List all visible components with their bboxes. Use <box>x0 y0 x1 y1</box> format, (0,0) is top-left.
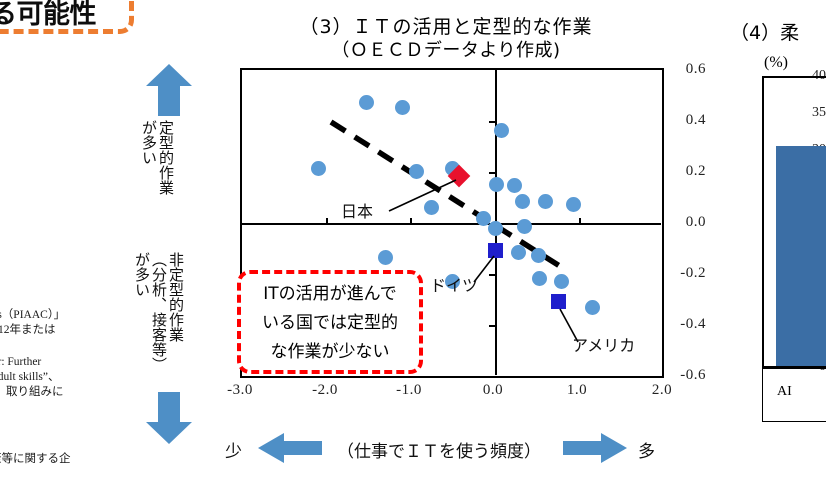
note-line-6: 康等に関する企 <box>0 452 71 467</box>
x-tick-label: -1.0 <box>379 382 439 399</box>
bar-chart-title: （4）柔 <box>730 18 799 45</box>
y-tick-label: -0.4 <box>666 316 706 333</box>
arrow-left-icon <box>258 433 322 463</box>
scatter-title-line1: （3）ＩＴの活用と定型的な作業 <box>236 12 656 39</box>
bar-category-box: AI <box>762 368 826 422</box>
annotation-label-germany: ドイツ <box>430 272 478 296</box>
bar-rect-ai <box>776 146 826 366</box>
note-line-4: f adult skills”、 <box>0 370 59 385</box>
red-callout-line3: な作業が少ない <box>241 338 419 367</box>
red-callout-line1: ITの活用が進んで <box>241 280 419 309</box>
y-axis-caption-nonroutine: 非定型的作業 （分析、接客等） が多い <box>133 252 184 400</box>
red-callout-box: ITの活用が進んで いる国では定型的 な作業が少ない <box>237 270 423 374</box>
x-tick-label: -2.0 <box>295 382 355 399</box>
annotation-label-usa: アメリカ <box>572 332 635 356</box>
note-line-2: 12年または <box>0 323 56 338</box>
bar-category-label: AI <box>777 384 792 400</box>
note-line-7: 。 <box>0 468 8 483</box>
x-tick-label: 2.0 <box>632 382 692 399</box>
y-axis-caption-routine: 定型的作業 が多い <box>140 120 174 250</box>
x-tick-label: 1.0 <box>547 382 607 399</box>
arrow-right-icon <box>563 433 627 463</box>
y-tick-label: 0.6 <box>666 61 706 78</box>
y-tick-label: 0.0 <box>666 214 706 231</box>
note-line-1: kills（PIAAC）」 <box>0 308 65 323</box>
x-caption-多: 多 <box>638 437 655 462</box>
note-line-3: tter: Further <box>0 355 41 370</box>
y-tick-label: -0.2 <box>666 265 706 282</box>
red-callout-line2: いる国では定型的 <box>241 309 419 338</box>
x-caption-少: 少 <box>225 437 242 462</box>
red-callout-text-wrap: ITの活用が進んで いる国では定型的 な作業が少ない <box>241 280 419 367</box>
arrow-up-icon <box>146 64 192 116</box>
x-tick-label: -3.0 <box>210 382 270 399</box>
x-axis-caption-row: 少 （仕事でＩＴを使う頻度） 多 <box>225 425 685 471</box>
y-tick-label: 0.4 <box>666 112 706 129</box>
y-tick-label: 0.2 <box>666 163 706 180</box>
bar-chart: （4）柔 (%) 40 35 30 25 20 15 10 5 0 AI <box>718 18 826 438</box>
orange-callout-label: る可能性 <box>0 0 140 32</box>
note-line-5: 取り組みに <box>6 385 64 400</box>
bar-chart-unit: (%) <box>764 54 788 72</box>
x-caption-main: （仕事でＩＴを使う頻度） <box>337 437 541 462</box>
annotation-label-japan: 日本 <box>341 198 373 222</box>
x-tick-label: 0.0 <box>463 382 523 399</box>
scatter-title-line2: （ＯＥＣＤデータより作成) <box>236 36 656 62</box>
